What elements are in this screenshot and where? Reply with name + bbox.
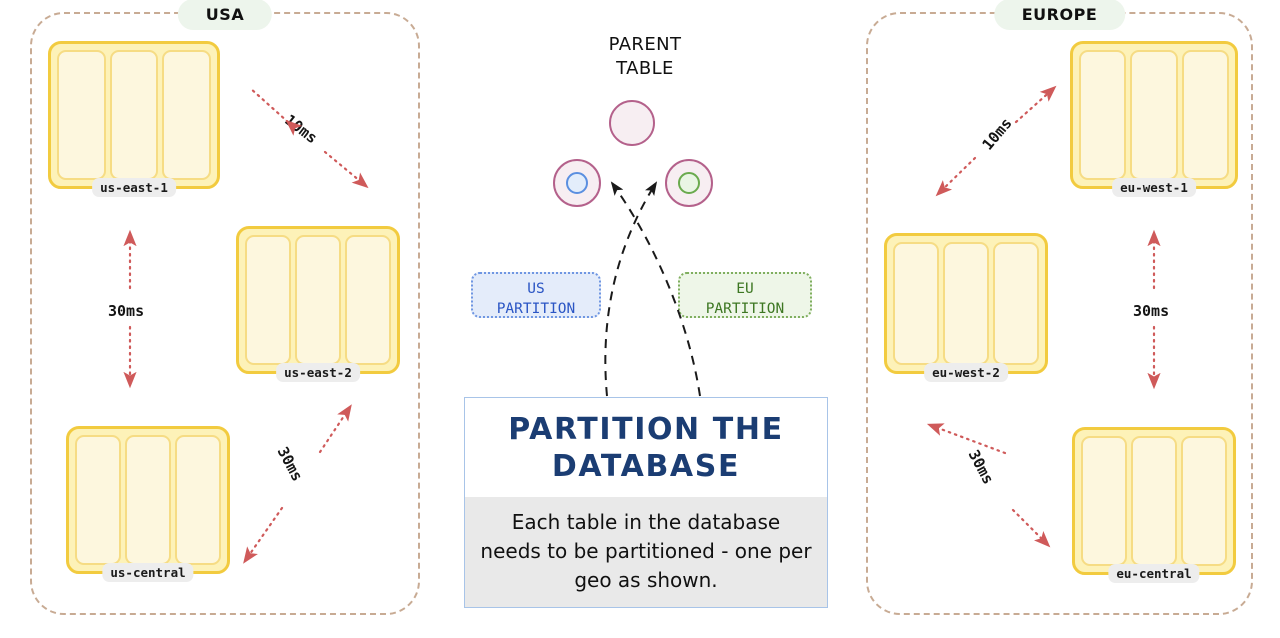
callout-card: PARTITION THE DATABASE Each table in the… [464,397,828,608]
rack-slot [57,50,106,180]
rack-slot [345,235,391,365]
rack-slot [943,242,989,365]
region-title-usa: USA [178,0,272,30]
server-rack-us-east-2[interactable]: us-east-2 [236,226,400,374]
rack-label-us-east-1: us-east-1 [92,178,176,197]
rack-slot [175,435,221,565]
rack-slot [125,435,171,565]
eu-partition-node[interactable] [665,159,713,207]
latency-label-eu-vertical: 30ms [1133,302,1169,320]
server-rack-eu-central[interactable]: eu-central [1072,427,1236,575]
parent-table-caption: PARENT TABLE [544,33,746,82]
latency-label-usa-vertical: 30ms [108,302,144,320]
partition-link-to-eu-node [605,183,656,396]
rack-slot [1130,50,1177,180]
rack-label-eu-central: eu-central [1108,564,1199,583]
server-rack-eu-west-1[interactable]: eu-west-1 [1070,41,1238,189]
region-title-europe: EUROPE [994,0,1126,30]
rack-label-us-east-2: us-east-2 [276,363,360,382]
callout-body: Each table in the database needs to be p… [465,497,827,607]
rack-label-eu-west-2: eu-west-2 [924,363,1008,382]
us-partition-chip[interactable]: US PARTITION [471,272,601,318]
diagram-canvas: USA us-east-1 us-east-2 us-central 10ms … [0,0,1280,638]
callout-title: PARTITION THE DATABASE [465,398,827,497]
rack-label-us-central: us-central [102,563,193,582]
rack-slot [993,242,1039,365]
rack-slot [75,435,121,565]
rack-slot [162,50,211,180]
eu-partition-node-core [678,172,700,194]
rack-slot [295,235,341,365]
eu-partition-chip[interactable]: EU PARTITION [678,272,812,318]
rack-slot [1182,50,1229,180]
rack-label-eu-west-1: eu-west-1 [1112,178,1196,197]
rack-slot [245,235,291,365]
rack-slot [110,50,159,180]
rack-slot [893,242,939,365]
server-rack-us-east-1[interactable]: us-east-1 [48,41,220,189]
rack-slot [1131,436,1177,566]
us-partition-node[interactable] [553,159,601,207]
server-rack-eu-west-2[interactable]: eu-west-2 [884,233,1048,374]
rack-slot [1079,50,1126,180]
parent-table-node[interactable] [609,100,655,146]
server-rack-us-central[interactable]: us-central [66,426,230,574]
rack-slot [1081,436,1127,566]
us-partition-node-core [566,172,588,194]
rack-slot [1181,436,1227,566]
